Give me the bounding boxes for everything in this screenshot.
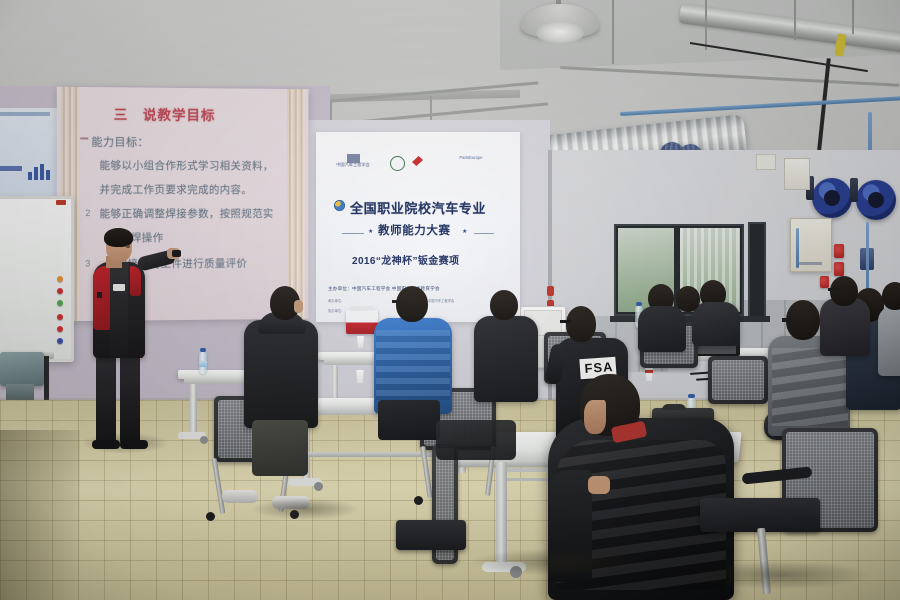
- remote-clicker-icon[interactable]: [172, 250, 181, 257]
- slide-dash-icon: [80, 137, 88, 139]
- magnet-red-1[interactable]: [57, 288, 63, 294]
- presenter-pocket-tab: [97, 292, 102, 298]
- attendee-a1-body: [244, 320, 318, 428]
- chair-front-left-seat: [396, 520, 466, 550]
- magnet-red-3[interactable]: [57, 326, 63, 332]
- attendee-a8-head: [830, 276, 858, 306]
- cooler-box[interactable]: [346, 310, 378, 334]
- table-caster-2: [314, 482, 323, 491]
- cup-logo: [645, 370, 653, 373]
- chair-back-5[interactable]: [708, 356, 768, 404]
- attendee-back-head-3: [676, 286, 700, 312]
- attendee-a9-body: [878, 306, 900, 376]
- shadow-right: [690, 560, 870, 590]
- sign-text-line: [0, 112, 50, 116]
- chair-1-caster-a: [206, 512, 215, 521]
- attendee-a9-head: [882, 282, 900, 310]
- slide-subtitle: 能力目标：: [91, 133, 149, 149]
- attendee-a1-legs: [252, 420, 308, 476]
- banner-title-line3: 2016“龙神杯”钣金赛项: [352, 252, 459, 267]
- banner-rule-left: [342, 233, 364, 234]
- bottle-cap-2: [636, 302, 642, 306]
- reel-bracket-2: [850, 178, 858, 202]
- banner-globe-icon: [334, 200, 345, 211]
- classroom-photo: 三 说教学目标 能力目标： 能够以小组合作形式学习相关资料， 并完成工作页要求完…: [0, 0, 900, 600]
- magnet-green[interactable]: [57, 300, 63, 306]
- bottle-cap-3: [688, 394, 695, 398]
- cabinet-label: [796, 262, 822, 265]
- banner-fineprint-col2: 中国汽车工程学会: [428, 298, 454, 303]
- attendee-a8-glasses: [828, 288, 839, 291]
- presenter-leg-right: [120, 356, 140, 444]
- power-socket-3[interactable]: [820, 276, 829, 288]
- chair-2-caster: [414, 496, 423, 505]
- presenter-jacket-center: [110, 262, 128, 358]
- attendee-a6-quilting: [772, 348, 848, 426]
- attendee-back-body-2: [692, 302, 740, 346]
- table-caster-1: [200, 436, 208, 444]
- floor-shadow-left: [0, 430, 80, 600]
- hanger-wire-4: [852, 0, 854, 34]
- sign-logo-mark: [0, 166, 22, 171]
- banner-star-left: ★: [368, 228, 373, 235]
- presenter-jacket-red-shoulder: [130, 266, 141, 296]
- hanger-wire-7: [430, 96, 432, 122]
- sign-bar-chart-icon: [28, 164, 50, 180]
- slide-bullet-1: 并完成工作页要求完成的内容。: [99, 182, 252, 197]
- wall-switch[interactable]: [756, 154, 776, 170]
- attendee-a2-head: [396, 286, 428, 322]
- presenter-badge: [113, 284, 125, 291]
- pendant-light-glow: [536, 22, 584, 44]
- banner-rule-right: [474, 233, 494, 234]
- banner-fineprint-left: 承办单位：: [328, 298, 344, 303]
- hanger-wire-1: [612, 0, 614, 64]
- banner-fineprint-right: 协办单位：: [328, 308, 344, 313]
- attendee-a4-glasses: [560, 320, 571, 323]
- power-socket-2[interactable]: [834, 262, 844, 276]
- presenter-shoe-left: [92, 440, 120, 449]
- hanger-wire-3: [794, 0, 796, 40]
- attendee-a6-glasses: [782, 318, 794, 322]
- bottle-cap-1: [200, 348, 206, 352]
- presenter-shoe-right: [120, 440, 148, 449]
- slide-bullet-0: 能够以小组合作形式学习相关资料，: [99, 158, 273, 174]
- junction-box: [784, 158, 810, 190]
- attendee-a8-body: [820, 298, 870, 356]
- slide-bullet-4-num: 3: [85, 258, 90, 268]
- attendee-a3-body: [474, 316, 538, 402]
- attendee-a2-quilting: [376, 330, 450, 400]
- slide-bullet-2-num: 2: [85, 208, 90, 218]
- sponsor-logo-4: PartsEurope: [450, 156, 492, 168]
- hose-reel-1: [812, 178, 852, 218]
- attendee-a2-lower: [378, 400, 440, 440]
- attendee-a5-face: [584, 400, 606, 434]
- sponsor-logo-3: [412, 156, 442, 169]
- presenter-eye: [126, 245, 130, 248]
- magnet-orange[interactable]: [57, 276, 63, 282]
- hanger-wire-2: [705, 0, 707, 50]
- slide-title: 三 说教学目标: [114, 103, 216, 124]
- whiteboard-corner-tag: [56, 200, 66, 205]
- attendee-a5-hand: [588, 476, 610, 494]
- hose-reel-2: [856, 180, 896, 220]
- magnet-red-2[interactable]: [57, 314, 63, 320]
- attendee-a3-head: [490, 290, 518, 320]
- table-back-left-leg-1: [190, 384, 197, 436]
- window-mullion: [748, 222, 766, 318]
- sponsor-logo-2: [390, 156, 405, 171]
- attendee-a1-ear: [294, 300, 303, 313]
- presenter-jacket-red-panel: [93, 266, 110, 330]
- banner-title-line2: 教师能力大赛: [378, 222, 451, 238]
- cooler-lid: [350, 306, 374, 311]
- slide-pillar-right: [287, 89, 305, 319]
- chair-foreground-edge: [436, 420, 516, 460]
- attendee-a2-glasses: [392, 300, 401, 303]
- shadow-front: [470, 548, 650, 576]
- attendee-a4-head: [566, 306, 596, 342]
- banner-title-line1: 全国职业院校汽车专业: [350, 198, 486, 217]
- blue-pipe-cabinet: [796, 228, 799, 268]
- slide-bullet-2: 能够正确调整焊接参数，按照规范实: [99, 206, 273, 221]
- chair-front-right-seat: [700, 498, 820, 532]
- bag-handle-1: [662, 404, 686, 410]
- sponsor-logo-1: 中国汽车工程学会: [330, 154, 376, 172]
- emergency-button-1[interactable]: [547, 286, 554, 296]
- shadow-mid: [250, 498, 360, 520]
- bottle-label-1: [199, 361, 207, 367]
- magnet-blue[interactable]: [57, 338, 63, 344]
- attendee-back-body-1: [638, 306, 686, 352]
- power-socket-1[interactable]: [834, 244, 844, 258]
- presenter-leg-left: [96, 356, 116, 444]
- banner-star-right: ★: [462, 228, 467, 235]
- welding-fixture: [0, 352, 44, 386]
